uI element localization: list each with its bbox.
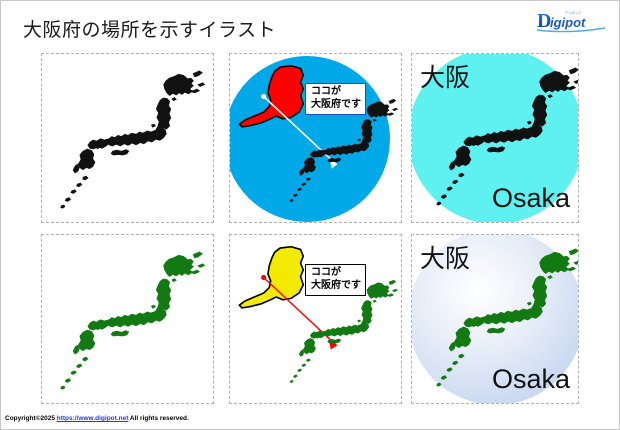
panel-japan-green-plain[interactable] [41,234,214,404]
callout-line-2: 大阪府です [311,280,361,293]
callout-line-1: ココが [311,86,361,99]
illustration-grid: ココが 大阪府です 大阪 Osaka [41,53,579,404]
slide-page: 大阪府の場所を示すイラスト D igipot デジポット [0,0,620,430]
panel-osaka-callout-black[interactable]: ココが 大阪府です [229,234,402,404]
label-osaka-japanese: 大阪 [420,66,470,91]
panel-osaka-callout-blue[interactable]: ココが 大阪府です [229,53,402,223]
svg-text:igipot: igipot [550,15,586,30]
footer-link[interactable]: https://www.digipot.net [57,415,129,422]
label-osaka-english: Osaka [492,366,570,393]
callout-line-1: ココが [311,267,361,280]
label-osaka-japanese: 大阪 [420,247,470,272]
page-title: 大阪府の場所を示すイラスト [23,15,276,42]
callout-box-blue: ココが 大阪府です [305,83,366,115]
footer-copyright: Copyright©2025 https://www.digipot.net A… [5,415,189,422]
japan-map-green [58,245,208,395]
japan-map-black [58,64,208,214]
panel-japan-green-gradient[interactable]: 大阪 Osaka [411,234,579,404]
svg-text:デジポット: デジポット [565,10,582,15]
callout-line-2: 大阪府です [311,99,361,112]
panel-japan-black-cyan[interactable]: 大阪 Osaka [411,53,579,223]
footer-prefix: Copyright©2025 [5,415,57,422]
callout-box-black: ココが 大阪府です [305,264,366,296]
label-osaka-english: Osaka [492,185,570,212]
footer-suffix: All rights reserved. [128,415,188,422]
panel-japan-black-plain[interactable] [41,53,214,223]
digipot-logo[interactable]: D igipot デジポット [535,7,607,33]
